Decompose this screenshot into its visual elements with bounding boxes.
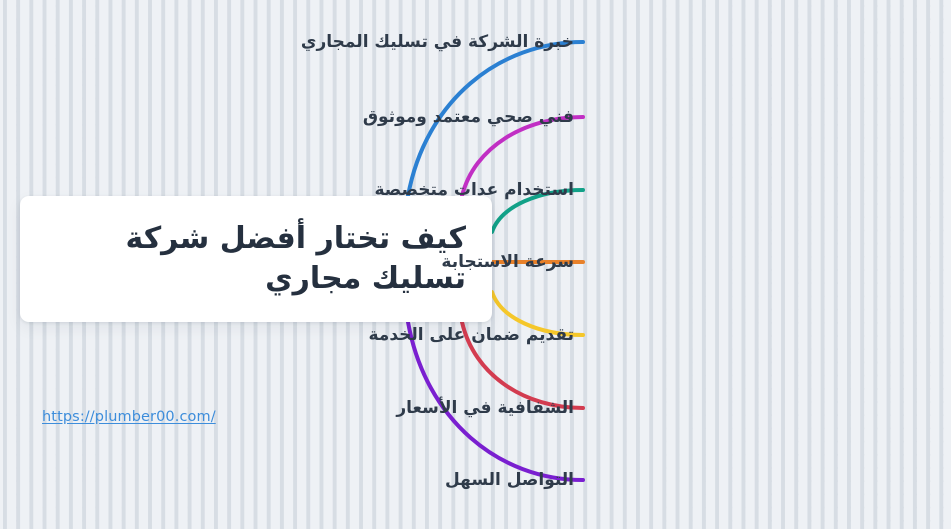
- central-topic-node[interactable]: كيف تختار أفضل شركة تسليك مجاري: [20, 196, 492, 322]
- central-topic-title: كيف تختار أفضل شركة تسليك مجاري: [46, 219, 466, 298]
- branch-label[interactable]: التواصل السهل: [445, 470, 574, 490]
- branch-label[interactable]: فني صحي معتمد وموثوق: [363, 107, 574, 127]
- branch-label[interactable]: خبرة الشركة في تسليك المجاري: [301, 32, 574, 52]
- branch-label[interactable]: تقديم ضمان على الخدمة: [369, 325, 575, 345]
- branch-label[interactable]: الشفافية في الأسعار: [396, 398, 574, 418]
- branch-label[interactable]: استخدام عدات متخصصة: [374, 180, 574, 200]
- mindmap-canvas: كيف تختار أفضل شركة تسليك مجاري خبرة الش…: [0, 0, 951, 529]
- source-url-link[interactable]: https://plumber00.com/: [42, 409, 216, 425]
- branch-label[interactable]: سرعة الاستجابة: [441, 252, 574, 272]
